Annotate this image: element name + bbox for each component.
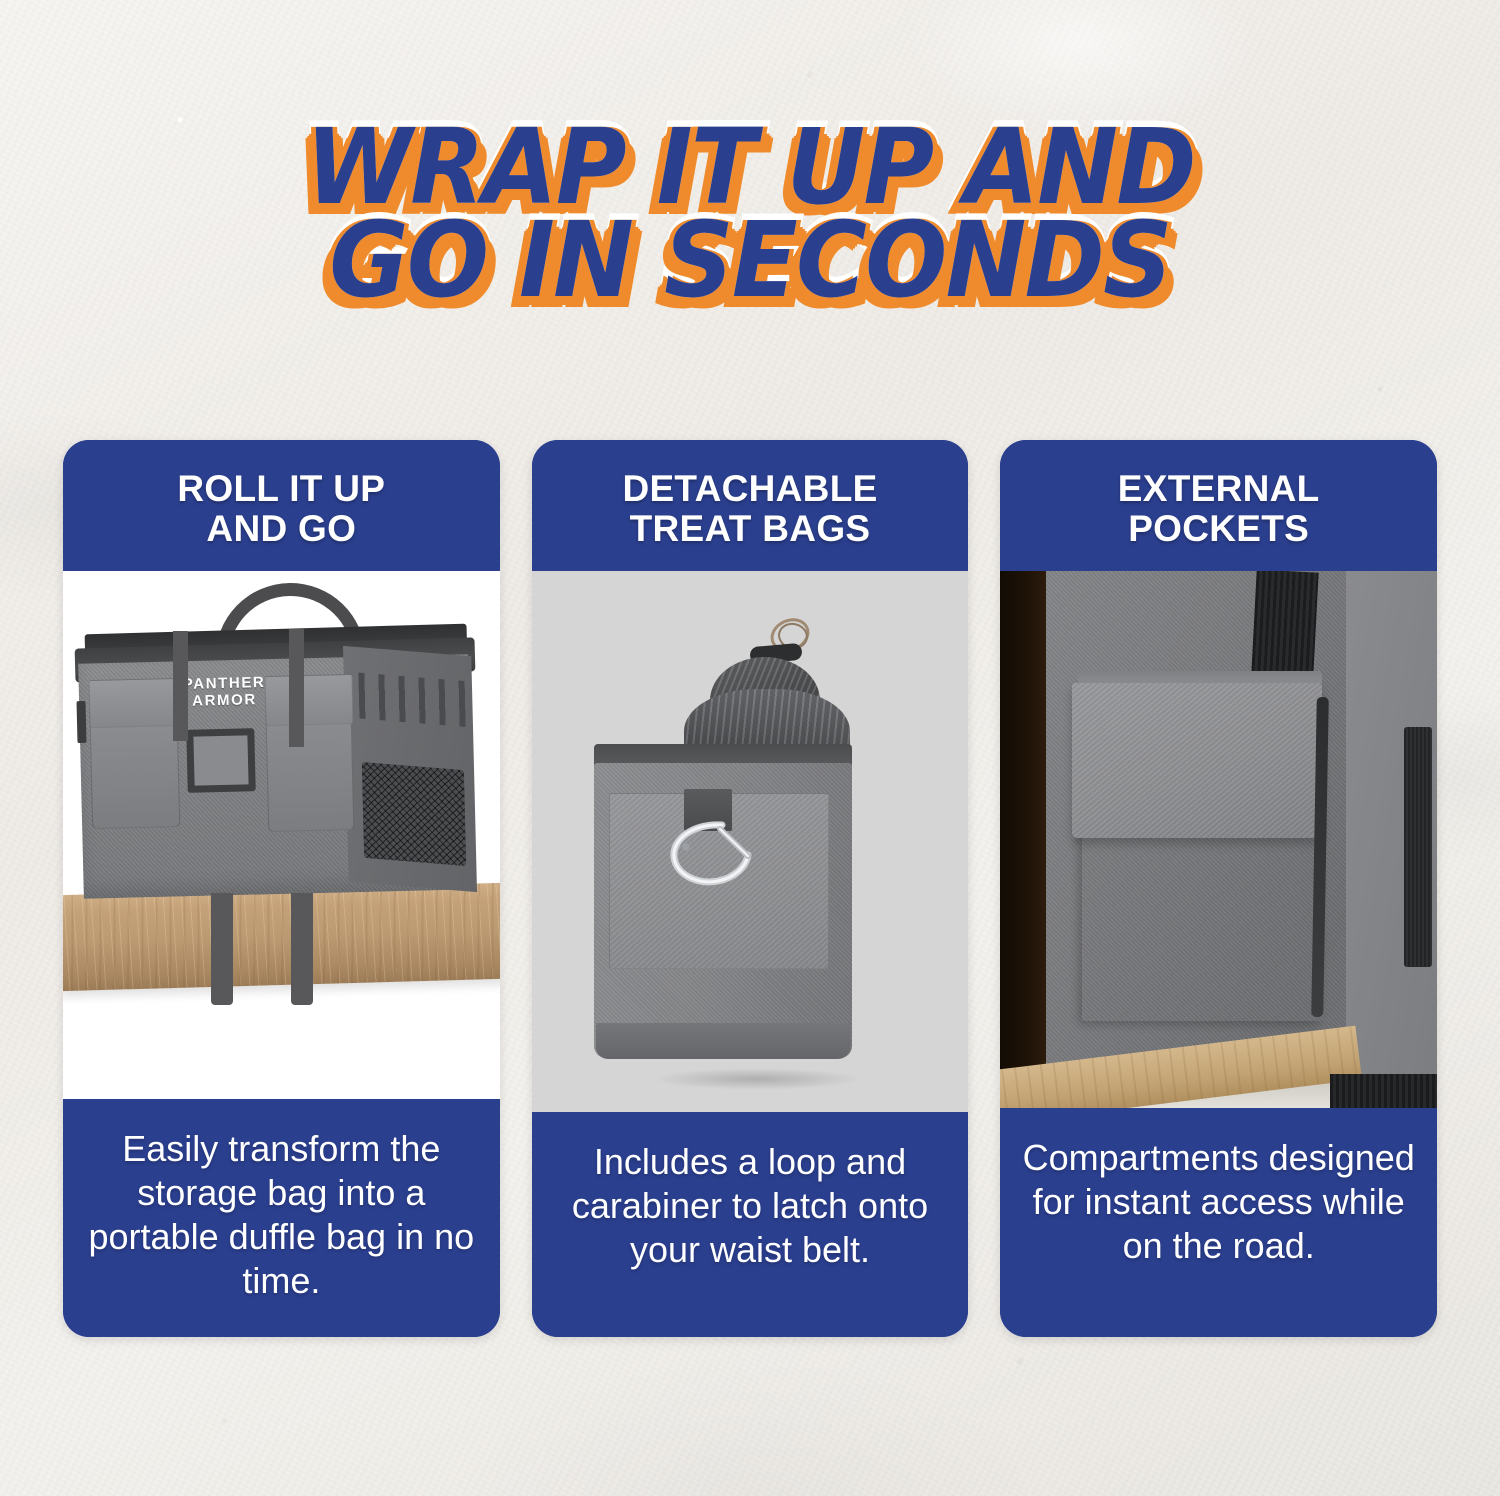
carabiner-icon xyxy=(664,819,758,887)
label-window xyxy=(186,728,256,793)
front-pocket-flap-middle xyxy=(264,674,353,726)
side-clip xyxy=(76,701,86,743)
card-header-line-1: EXTERNAL xyxy=(1012,469,1425,509)
card-header-line-2: POCKETS xyxy=(1012,509,1425,549)
velcro-strip xyxy=(1404,727,1432,967)
handle-strap-left xyxy=(173,631,188,741)
card-caption-external-pockets: Compartments designed for instant access… xyxy=(1000,1108,1437,1337)
bottom-webbing-strap xyxy=(1330,1074,1437,1108)
card-header-external-pockets: EXTERNAL POCKETS xyxy=(1000,440,1437,571)
card-header-line-1: DETACHABLE xyxy=(544,469,957,509)
card-header-line-2: TREAT BAGS xyxy=(544,509,957,549)
feature-card-roll-it-up: ROLL IT UP AND GO PANTHER xyxy=(63,440,500,1337)
external-pocket-body xyxy=(1082,811,1324,1021)
brand-logo-line-1: PANTHER xyxy=(183,674,266,693)
front-pocket-flap-left xyxy=(88,678,179,728)
feature-card-detachable-treat-bags: DETACHABLE TREAT BAGS xyxy=(532,440,969,1337)
product-shadow xyxy=(652,1068,862,1090)
pocket-flap xyxy=(1072,683,1322,838)
external-pocket-illustration xyxy=(1000,571,1437,1108)
card-header-roll-it-up: ROLL IT UP AND GO xyxy=(63,440,500,571)
card-caption-detachable-treat-bags: Includes a loop and carabiner to latch o… xyxy=(532,1112,969,1337)
hanging-strap-left xyxy=(211,893,233,1005)
dark-background xyxy=(1000,571,1046,1108)
feature-card-grid: ROLL IT UP AND GO PANTHER xyxy=(63,440,1437,1337)
card-header-detachable-treat-bags: DETACHABLE TREAT BAGS xyxy=(532,440,969,571)
treat-bag-illustration xyxy=(532,571,969,1112)
top-webbing-strap xyxy=(1252,571,1319,677)
brand-logo: PANTHER ARMOR xyxy=(183,674,266,711)
brand-logo-line-2: ARMOR xyxy=(183,691,266,710)
front-pocket-middle xyxy=(266,718,355,832)
molle-webbing xyxy=(358,672,471,727)
card-caption-roll-it-up: Easily transform the storage bag into a … xyxy=(63,1099,500,1337)
wood-beam xyxy=(63,883,500,991)
tote-bag-illustration: PANTHER ARMOR xyxy=(63,571,500,1099)
card-header-line-2: AND GO xyxy=(75,509,488,549)
front-pocket-left xyxy=(90,722,181,829)
card-header-line-1: ROLL IT UP xyxy=(75,469,488,509)
handle-strap-right xyxy=(289,629,304,747)
card-photo-storage-tote: PANTHER ARMOR xyxy=(63,571,500,1099)
card-photo-external-pocket xyxy=(1000,571,1437,1108)
hanging-strap-right xyxy=(291,893,313,1005)
card-photo-treat-bag xyxy=(532,571,969,1112)
treat-bag-base xyxy=(596,1023,850,1059)
feature-card-external-pockets: EXTERNAL POCKETS Compartments designed f… xyxy=(1000,440,1437,1337)
headline-line-2: GO IN SECONDS xyxy=(53,211,1448,310)
page-headline: WRAP IT UP AND GO IN SECONDS xyxy=(0,118,1500,310)
mesh-pocket xyxy=(362,762,467,866)
